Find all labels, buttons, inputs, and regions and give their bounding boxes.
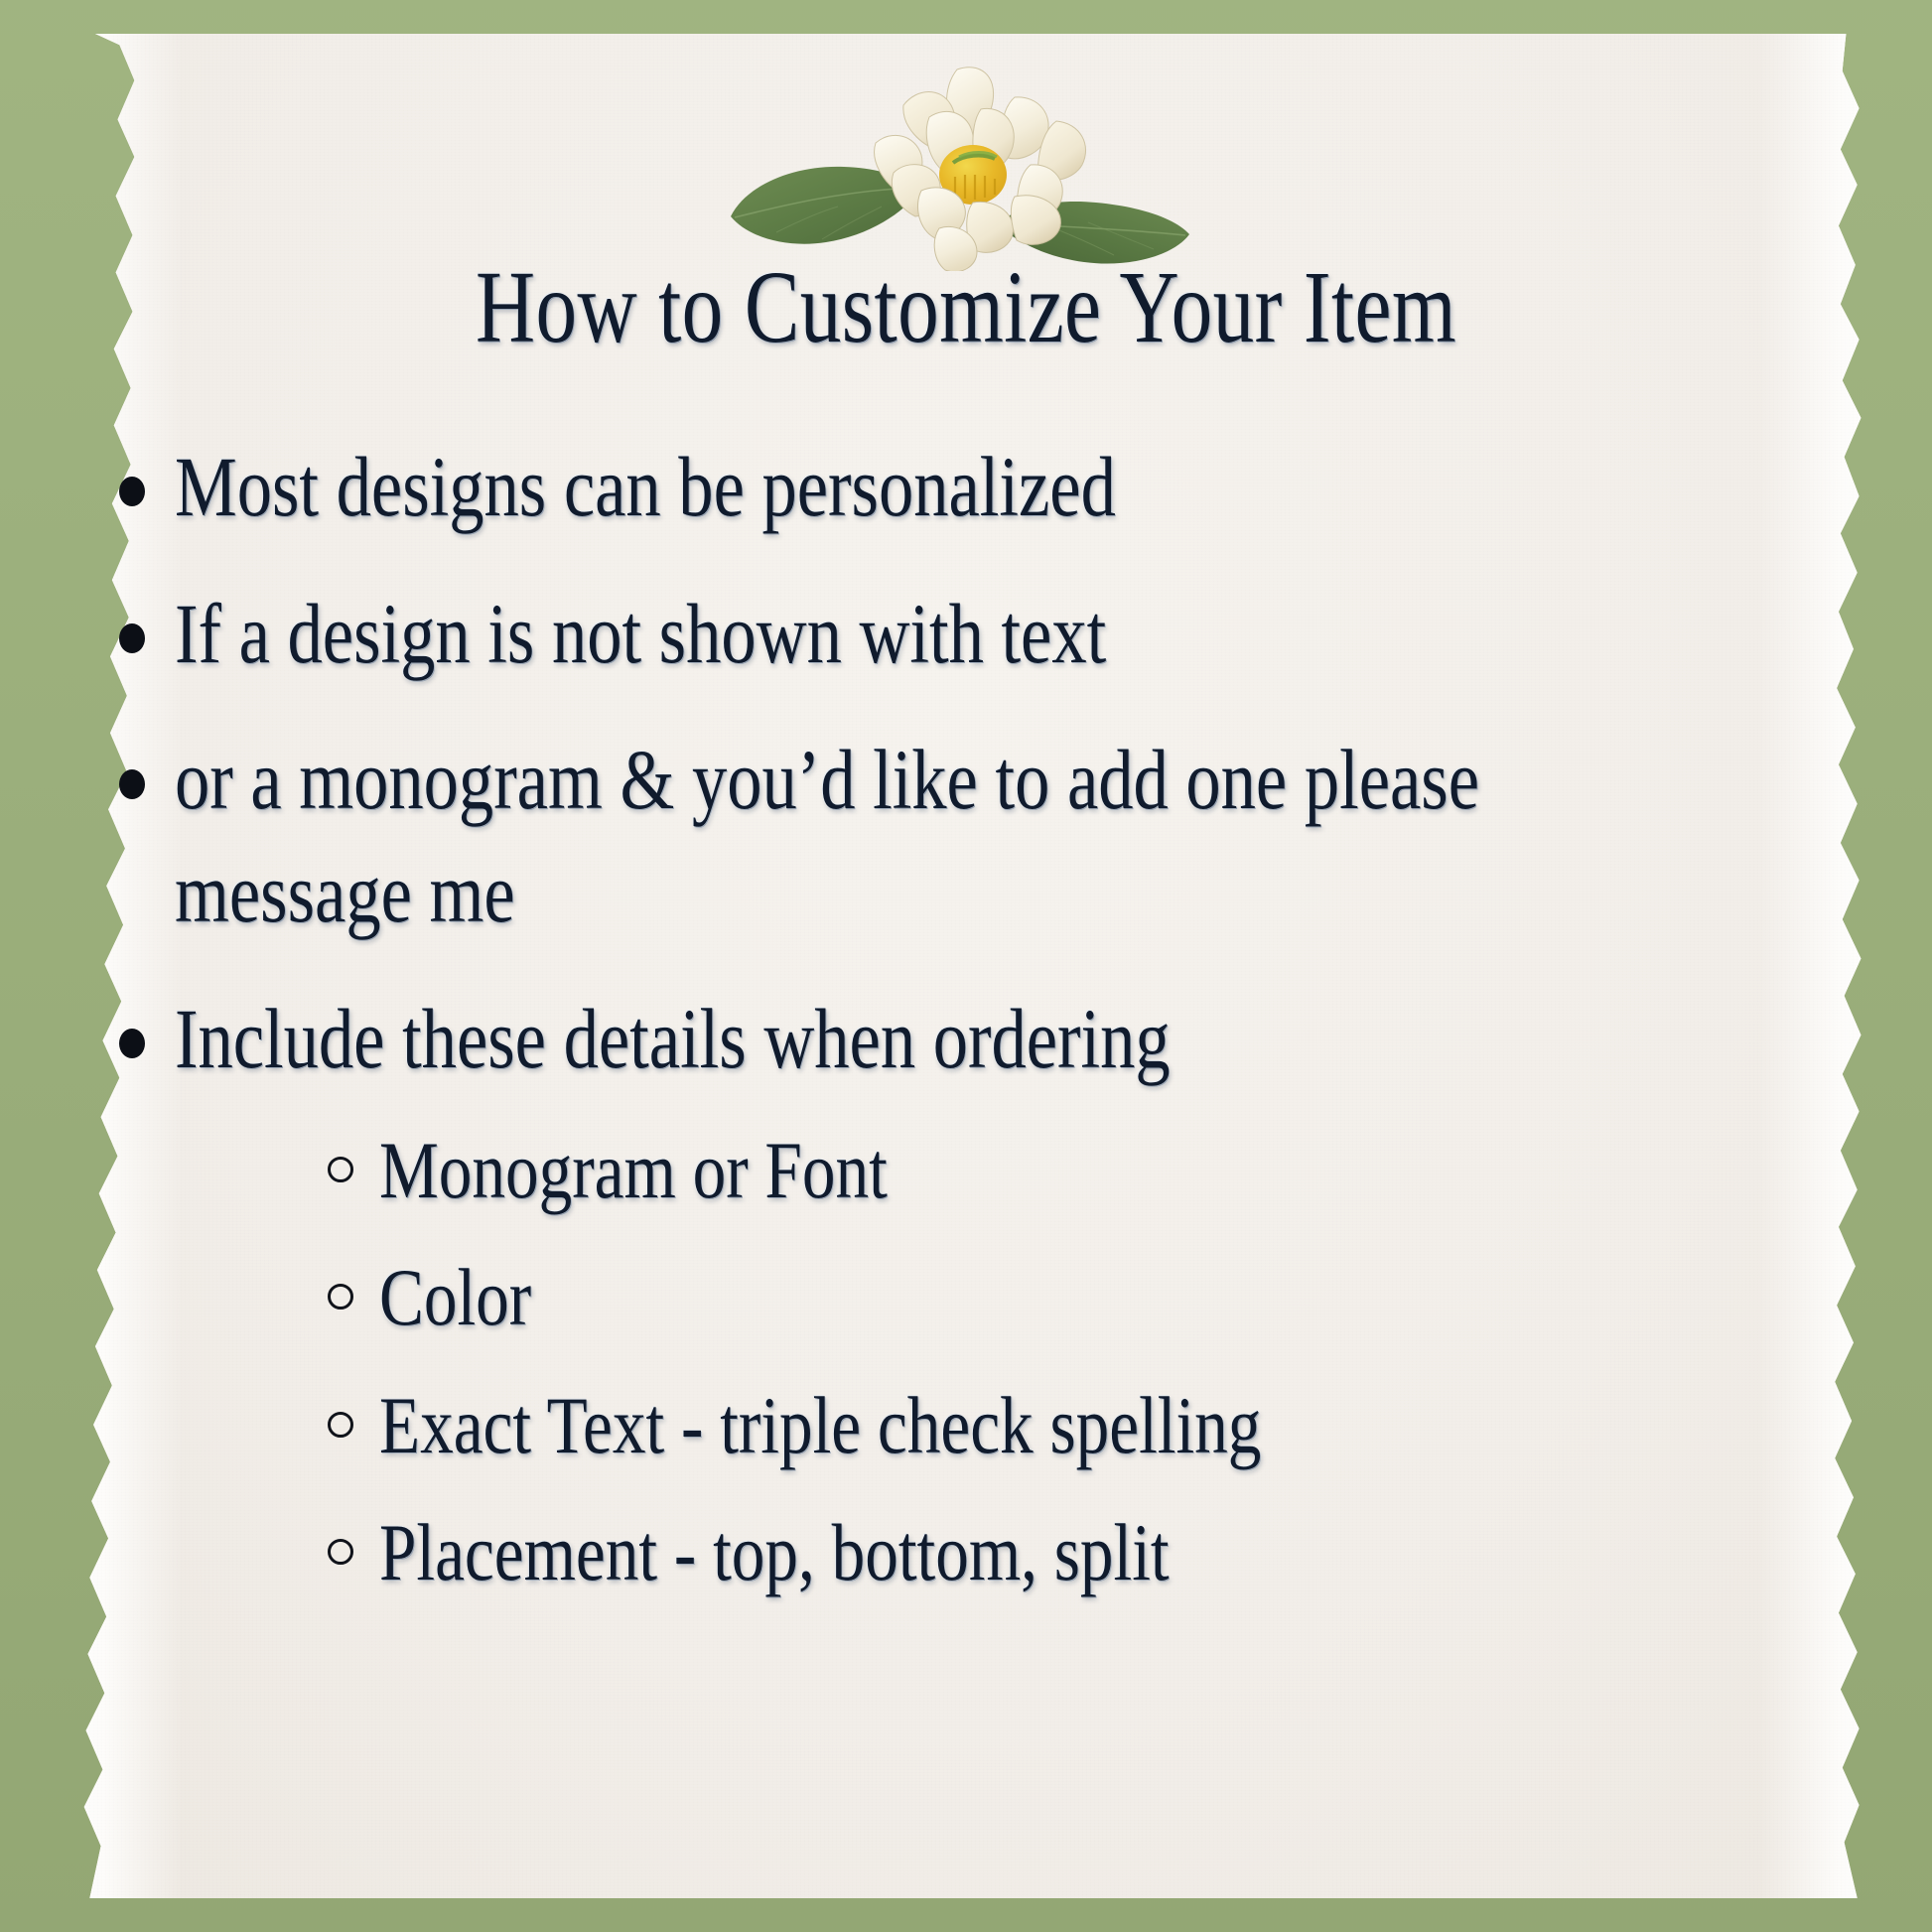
- sub-list-item-label: Color: [379, 1245, 531, 1351]
- list-item-label: Include these details when ordering: [175, 983, 1171, 1096]
- sub-list-item-label: Monogram or Font: [379, 1118, 888, 1224]
- list-item-label: or a monogram & you’d like to add one pl…: [175, 724, 1615, 949]
- list-item: or a monogram & you’d like to add one pl…: [0, 724, 1932, 949]
- bullet-dot-icon: [119, 754, 175, 809]
- list-item: If a design is not shown with text: [0, 578, 1932, 691]
- list-item-label: Most designs can be personalized: [175, 431, 1116, 544]
- sub-list-item-label: Exact Text - triple check spelling: [379, 1373, 1261, 1479]
- page-title: How to Customize Your Item: [194, 254, 1739, 361]
- bullet-dot-icon: [119, 461, 175, 516]
- sub-list-item: Color: [0, 1245, 1932, 1351]
- list-item: Include these details when ordering: [0, 983, 1932, 1096]
- bullet-circle-icon: [328, 1534, 379, 1572]
- bullet-dot-icon: [119, 1013, 175, 1068]
- sub-list-item: Monogram or Font: [0, 1118, 1932, 1224]
- bullet-circle-icon: [328, 1152, 379, 1189]
- bullet-dot-icon: [119, 608, 175, 663]
- sub-list-item: Exact Text - triple check spelling: [0, 1373, 1932, 1479]
- list-item: Most designs can be personalized: [0, 431, 1932, 544]
- magnolia-flower-illustration: [727, 58, 1193, 271]
- bullet-circle-icon: [328, 1279, 379, 1316]
- sub-list-item: Placement - top, bottom, split: [0, 1500, 1932, 1606]
- bullet-circle-icon: [328, 1407, 379, 1445]
- instructions-list: Most designs can be personalized If a de…: [0, 397, 1932, 1606]
- poster-content: How to Customize Your Item Most designs …: [0, 0, 1932, 1932]
- list-item-label: If a design is not shown with text: [175, 578, 1106, 691]
- sub-list-item-label: Placement - top, bottom, split: [379, 1500, 1170, 1606]
